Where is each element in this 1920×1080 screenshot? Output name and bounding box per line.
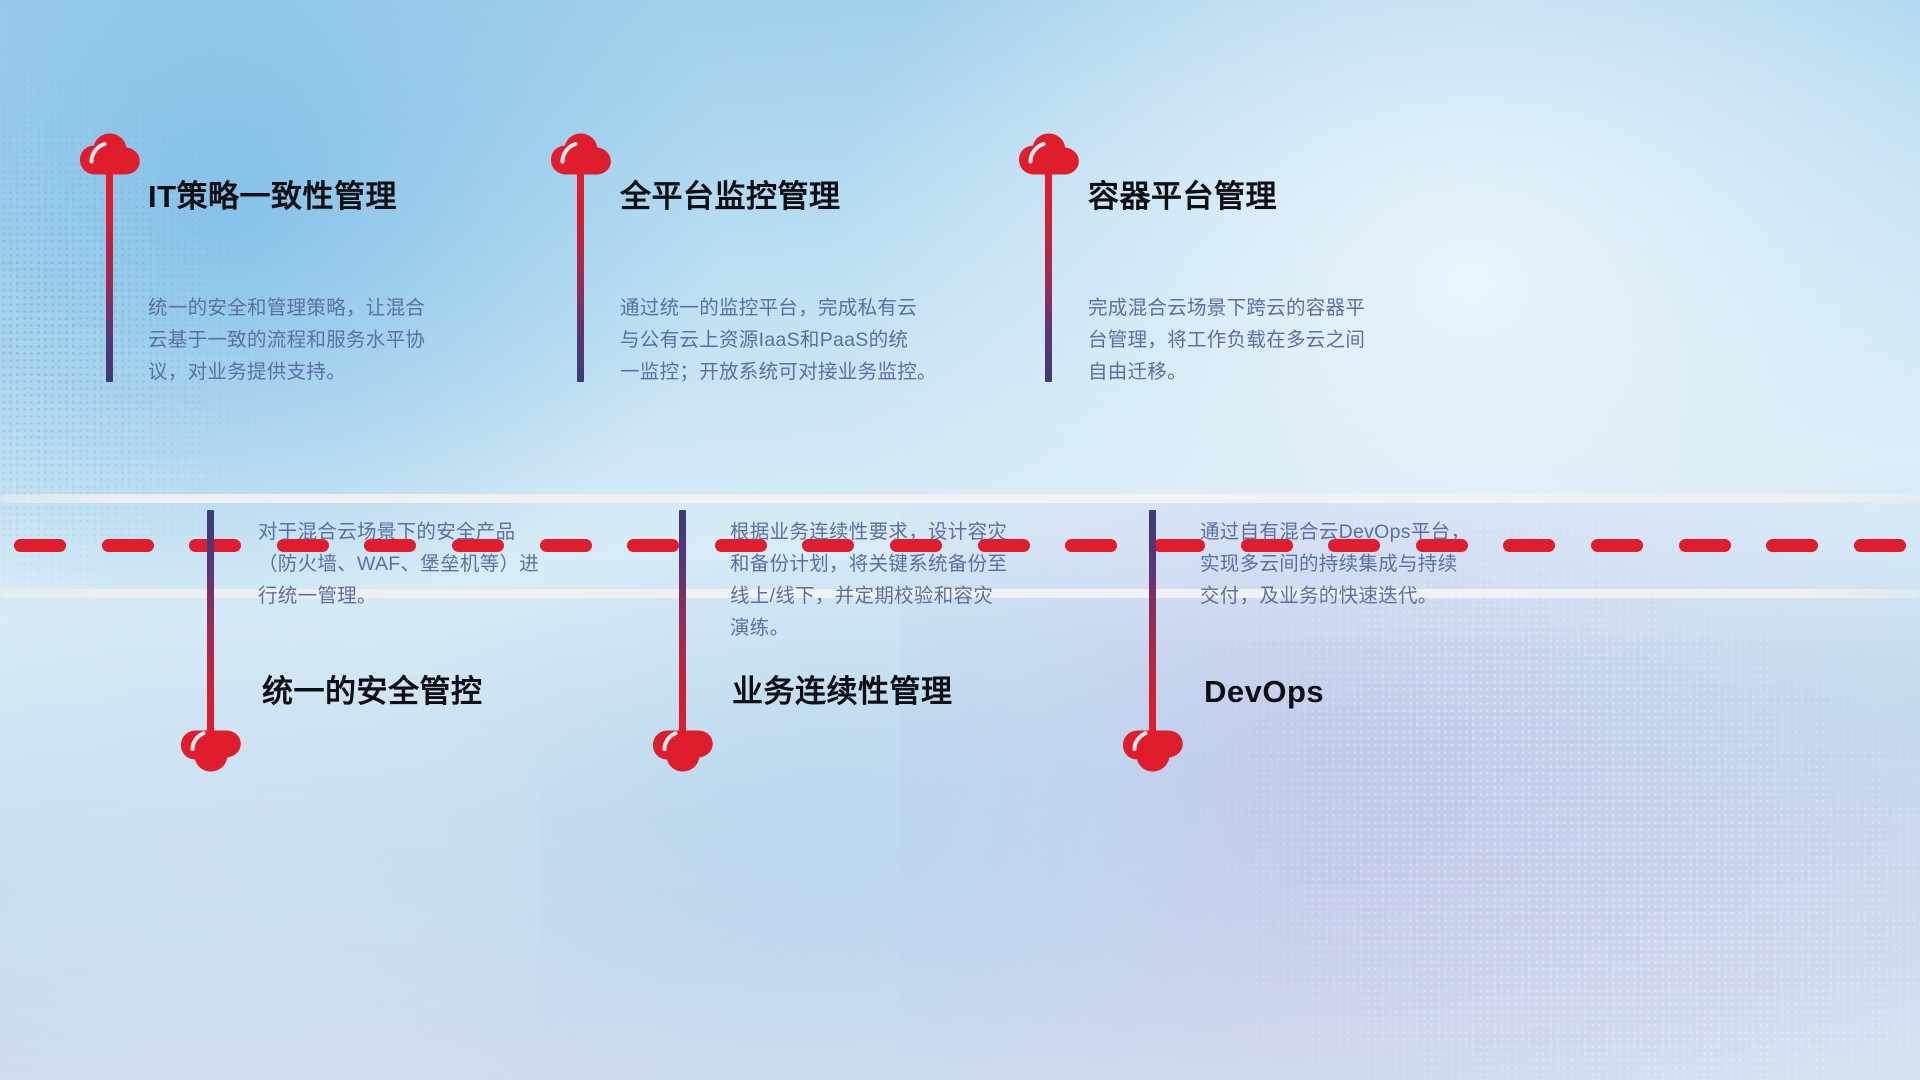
card-body: 统一的安全和管理策略，让混合 云基于一致的流程和服务水平协 议，对业务提供支持。 (148, 292, 518, 388)
cloud-pin-icon (652, 730, 714, 774)
card-body: 根据业务连续性要求，设计容灾 和备份计划，将关键系统备份至 线上/线下，并定期校… (730, 516, 1090, 644)
card-body: 对于混合云场景下的安全产品 （防火墙、WAF、堡垒机等）进 行统一管理。 (258, 516, 618, 612)
road-dash (189, 539, 241, 552)
marker-stem (1045, 172, 1052, 382)
road-line-upper (0, 494, 1920, 503)
road-dash (1591, 539, 1643, 552)
cloud-pin-icon (180, 730, 242, 774)
road-dash (1766, 539, 1818, 552)
road-dash (1679, 539, 1731, 552)
card-title: IT策略一致性管理 (148, 180, 397, 214)
marker-stem (1149, 510, 1156, 738)
road-dash (1854, 539, 1906, 552)
card-body: 通过统一的监控平台，完成私有云 与公有云上资源IaaS和PaaS的统 一监控；开… (620, 292, 1000, 388)
card-title: 业务连续性管理 (732, 675, 953, 709)
cloud-pin-icon (550, 131, 612, 175)
road-dash (102, 539, 154, 552)
road-dash (1153, 539, 1205, 552)
marker-stem (679, 510, 686, 738)
road-dash (14, 539, 66, 552)
road-dash (627, 539, 679, 552)
infographic-canvas: IT策略一致性管理 统一的安全和管理策略，让混合 云基于一致的流程和服务水平协 … (0, 0, 1920, 1080)
cloud-pin-icon (1018, 131, 1080, 175)
marker-stem (577, 172, 584, 382)
card-body: 完成混合云场景下跨云的容器平 台管理，将工作负载在多云之间 自由迁移。 (1088, 292, 1468, 388)
cloud-pin-icon (1122, 730, 1184, 774)
card-title: DevOps (1204, 675, 1324, 709)
card-title: 全平台监控管理 (620, 180, 841, 214)
card-title: 容器平台管理 (1088, 180, 1277, 214)
card-body: 通过自有混合云DevOps平台， 实现多云间的持续集成与持续 交付，及业务的快速… (1200, 516, 1570, 612)
cloud-pin-icon (79, 131, 141, 175)
marker-stem (106, 172, 113, 382)
marker-stem (207, 510, 214, 738)
card-title: 统一的安全管控 (262, 675, 483, 709)
